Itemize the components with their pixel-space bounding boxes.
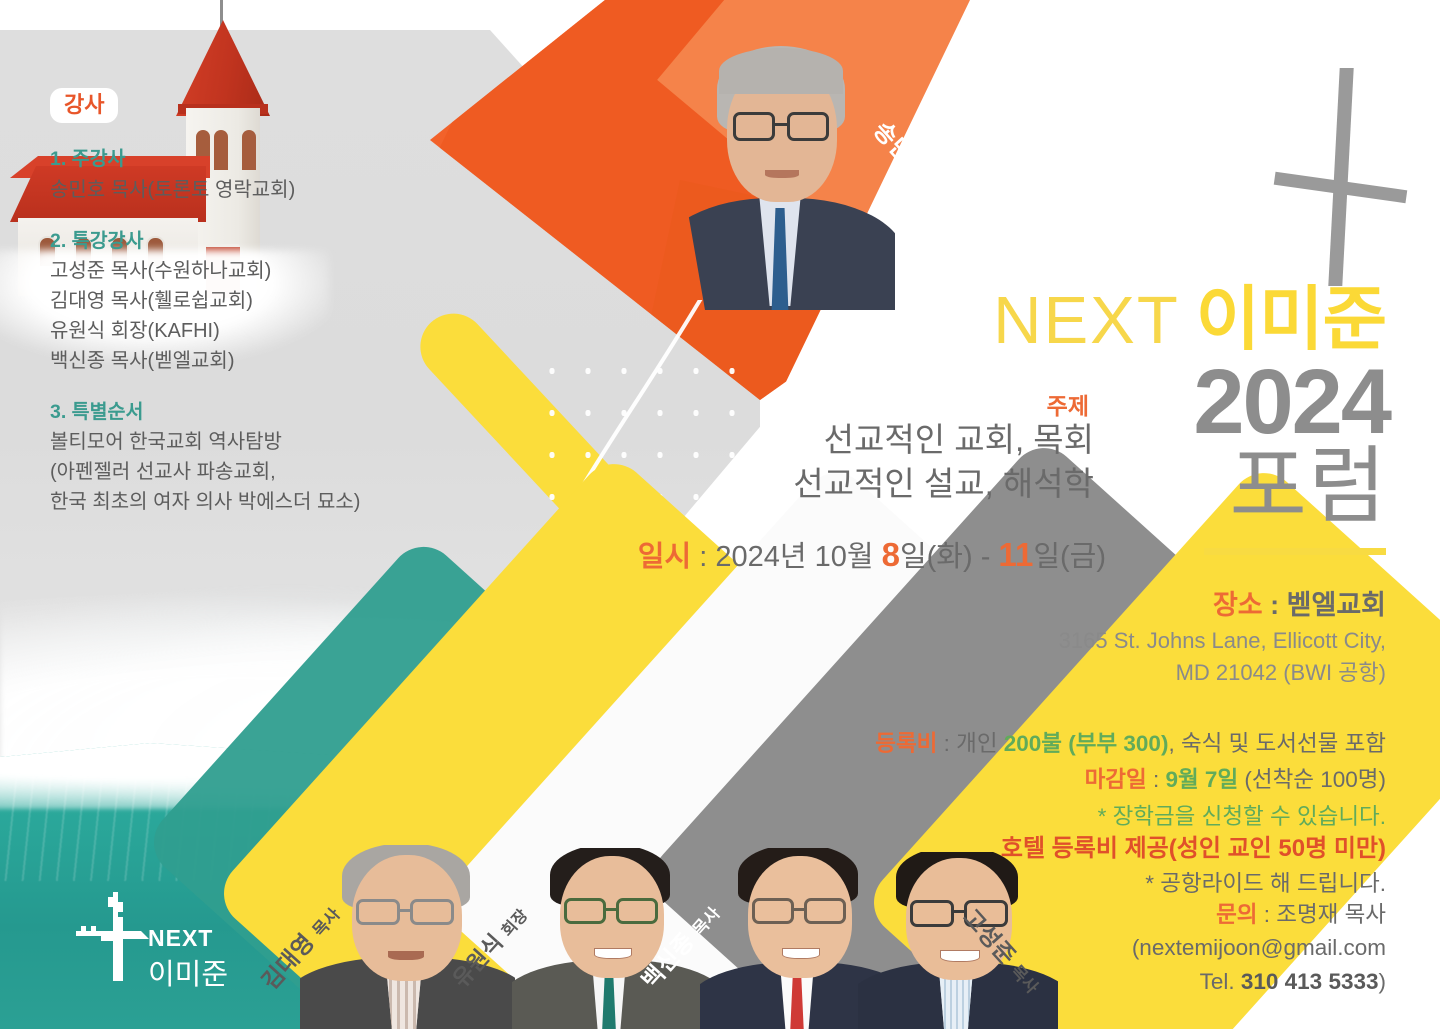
deadline-suffix: (선착순 100명) xyxy=(1238,767,1386,792)
venue-address: 3165 St. Johns Lane, Ellicott City, MD 2… xyxy=(1059,625,1386,688)
hotel-block: 호텔 등록비 제공(성인 교인 50명 미만) * 공항라이드 해 드립니다. xyxy=(1001,830,1386,902)
contact-person: : 조명재 목사 xyxy=(1257,902,1386,927)
venue-label: 장소 xyxy=(1213,590,1263,620)
hotel-headline: 호텔 등록비 제공(성인 교인 50명 미만) xyxy=(1001,835,1386,862)
contact-tel-line: Tel. 310 413 5333) xyxy=(1132,965,1386,998)
schedule-day-start-suffix: 일(화) xyxy=(900,541,973,573)
venue-name: : 벧엘교회 xyxy=(1263,590,1386,620)
schedule-dash: - xyxy=(973,541,999,573)
contact-label: 문의 xyxy=(1216,902,1257,927)
registration-block: 등록비 : 개인 200불 (부부 300), 숙식 및 도서선물 포함 마감일… xyxy=(875,726,1386,835)
tel-label: Tel. xyxy=(1200,969,1241,994)
schedule-day-start: 8 xyxy=(882,536,900,573)
brand-next: NEXT xyxy=(993,283,1180,358)
schedule-day-end: 11 xyxy=(998,536,1033,573)
section-heading: 1. 주강사 xyxy=(50,145,470,174)
speakers-panel: 강사 1. 주강사 송민호 목사(토론토 영락교회) 2. 특강강사 고성준 목… xyxy=(50,88,470,517)
schedule-sep: : xyxy=(691,541,715,573)
theme-line-2: 선교적인 설교, 해석학 xyxy=(793,462,1094,506)
deadline-label: 마감일 xyxy=(1085,767,1147,792)
fee-prefix: : 개인 xyxy=(937,731,1003,756)
next-emijoon-logo: NEXT 이미준 xyxy=(62,879,242,989)
fee-label: 등록비 xyxy=(875,731,937,756)
section-line: 볼티모어 한국교회 역사탐방 xyxy=(50,427,470,457)
section-line: 유원식 회장(KAFHI) xyxy=(50,316,470,346)
tel-number[interactable]: 310 413 5333 xyxy=(1241,969,1379,994)
section-line: (아펜젤러 선교사 파송교회, xyxy=(50,457,470,487)
section-line: 고성준 목사(수원하나교회) xyxy=(50,256,470,286)
theme-line-1: 선교적인 교회, 목회 xyxy=(793,418,1094,462)
brand-year: 2024 xyxy=(1193,356,1390,448)
title-underline xyxy=(1204,548,1386,555)
speaker-section-special: 2. 특강강사 고성준 목사(수원하나교회) 김대영 목사(휄로쉽교회) 유원식… xyxy=(50,227,470,376)
venue-line: 장소 : 벧엘교회 xyxy=(1213,583,1386,622)
schedule-label: 일시 xyxy=(638,541,691,573)
fee-suffix: , 숙식 및 도서선물 포함 xyxy=(1168,731,1386,756)
section-line: 한국 최초의 여자 의사 박에스더 묘소) xyxy=(50,487,470,517)
theme-text: 선교적인 교회, 목회 선교적인 설교, 해석학 xyxy=(793,418,1094,505)
speaker-section-program: 3. 특별순서 볼티모어 한국교회 역사탐방 (아펜젤러 선교사 파송교회, 한… xyxy=(50,398,470,517)
deadline-value: 9월 7일 xyxy=(1165,767,1238,792)
schedule-year-month: 2024년 10월 xyxy=(715,541,881,573)
schedule-line: 일시 : 2024년 10월 8일(화) - 11일(금) xyxy=(638,533,1106,575)
contact-email[interactable]: (nextemijoon@gmail.com xyxy=(1132,931,1386,964)
deadline-prefix: : xyxy=(1147,767,1166,792)
tel-close: ) xyxy=(1379,969,1387,994)
poster-canvas: 송민호 목사 김대영 목사 유원식 회장 xyxy=(0,0,1440,1029)
brand-emijoon: 이미준 xyxy=(1196,280,1386,358)
brand-title: NEXT이미준 xyxy=(993,284,1386,354)
logo-text-emijoon: 이미준 xyxy=(148,951,228,993)
section-line: 송민호 목사(토론토 영락교회) xyxy=(50,175,470,205)
event-info-column: NEXT이미준 2024 포럼 주제 선교적인 교회, 목회 선교적인 설교, … xyxy=(634,0,1394,1029)
address-line-1: 3165 St. Johns Lane, Ellicott City, xyxy=(1059,625,1386,657)
section-line: 백신종 목사(벧엘교회) xyxy=(50,346,470,376)
registration-deadline-line: 마감일 : 9월 7일 (선착순 100명) xyxy=(875,762,1386,798)
speakers-badge: 강사 xyxy=(50,88,118,123)
address-line-2: MD 21042 (BWI 공항) xyxy=(1059,657,1386,689)
schedule-day-end-suffix: 일(금) xyxy=(1033,541,1106,573)
section-heading: 3. 특별순서 xyxy=(50,398,470,427)
contact-block: 문의 : 조명재 목사 (nextemijoon@gmail.com Tel. … xyxy=(1132,898,1386,998)
theme-label: 주제 xyxy=(1047,387,1089,421)
registration-fee-line: 등록비 : 개인 200불 (부부 300), 숙식 및 도서선물 포함 xyxy=(875,726,1386,762)
section-heading: 2. 특강강사 xyxy=(50,227,470,256)
fee-amount: 200불 (부부 300) xyxy=(1004,731,1169,756)
brand-forum: 포럼 xyxy=(1229,444,1388,528)
hotel-note: * 공항라이드 해 드립니다. xyxy=(1001,867,1386,902)
logo-text-next: NEXT xyxy=(148,925,213,952)
speaker-section-main: 1. 주강사 송민호 목사(토론토 영락교회) xyxy=(50,145,470,204)
contact-person-line: 문의 : 조명재 목사 xyxy=(1132,898,1386,931)
section-line: 김대영 목사(휄로쉽교회) xyxy=(50,286,470,316)
